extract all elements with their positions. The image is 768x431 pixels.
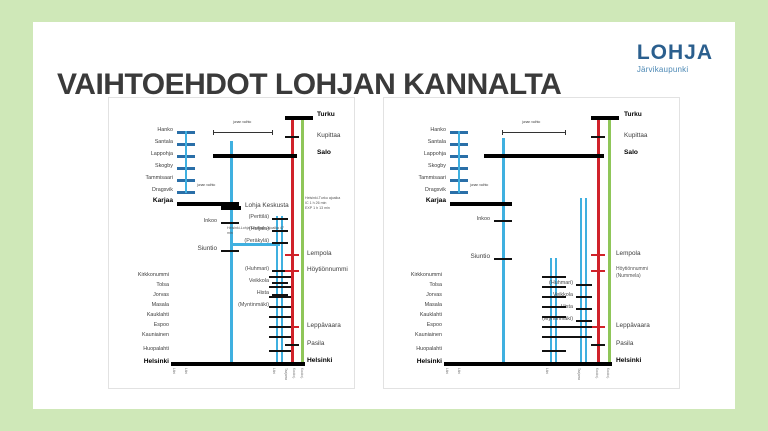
tick-perakyla [272,242,288,244]
label-inkoo: Inkoo [204,219,217,224]
label-lappohja-r: Lappohja [424,152,446,157]
vlabel-lahi-2-r: Lähi [457,368,460,374]
label-skogby: Skogby [155,164,173,169]
label-kauniainen: Kauniainen [142,333,169,338]
vlabel-lahi-3: Lähi [272,368,275,374]
label-espoo-r: Espoo [427,323,442,328]
tick-tolsa [269,286,291,288]
bar-lohja-keskusta [221,206,241,210]
label-turku-r: Turku [624,112,642,119]
bar-karjaa-r [450,202,512,206]
label-masala: Masala [152,303,169,308]
diagram-right: Turku Kupittaa Salo Hanko Santala Lappoh… [383,97,680,389]
label-helsinki-right: Helsinki [307,358,332,365]
label-hoytionnummi-nummela: Höytiönnummi (Nummela) [616,266,668,280]
tick-kirkkonummi [269,276,291,278]
vlabel-taajama-r: Taajama [577,368,580,380]
bar-turku [285,116,313,120]
label-helsinki-right-r: Helsinki [616,358,641,365]
label-perttila: (Perttilä) [249,215,269,220]
vlabel-kaukoj-2-r: Kaukoj. [606,368,609,379]
bar-turku-r [591,116,619,120]
label-dragsvik-r: Dragsvik [425,188,446,193]
line-green-kaukojuna [301,118,304,363]
diagram-left: Turku Kupittaa Salo Hanko Santala Lappoh… [108,97,355,389]
label-hista: Hista [257,291,269,296]
tick-lempola-r [591,254,605,256]
label-kirkkonummi-r: Kirkkonummi [411,273,442,278]
tick-tolsa-r [542,286,566,288]
tick-veikkola-r [576,296,592,298]
bar-salo-r [484,154,604,158]
tick-jorvas [269,296,291,298]
label-santala: Santala [155,140,173,145]
line-blue-espoo-a [276,216,278,363]
label-lempola: Lempola [307,251,332,257]
tick-kauniainen [269,336,291,338]
label-kupittaa: Kupittaa [317,133,340,139]
line-blue-karjaa-corridor [502,138,505,363]
tick-huopalahti [269,350,291,352]
tick-masala-r [542,306,566,308]
tick-perttila [272,218,288,220]
label-turku: Turku [317,112,335,119]
vlabel-lahi-3-r: Lähi [545,368,548,374]
label-hanko-r: Hanko [430,128,446,133]
label-kauklahti: Kauklahti [147,313,169,318]
tick-jorvas-r [542,296,566,298]
line-blue-hista-b [585,198,587,363]
logo-wordmark: LOHJA [637,42,713,63]
label-myntinmaki: (Myntinmäki) [238,303,269,308]
label-hoytionnummi: Höytiönnummi [307,267,348,273]
tick-hoytionnummi [285,270,299,272]
annotation-helsinki-turku-times: Helsinki-Turku ajoaika IC 1 h 26 min EXP… [305,196,375,211]
tick-lempola [285,254,299,256]
label-lohja-keskusta: Lohja Keskusta [245,203,289,209]
tick-hoytionnummi-r [591,270,605,272]
tick-inkoo-r [494,220,512,222]
transfer-text-karjaa-r: junan vaihto [470,183,488,187]
label-masala-r: Masala [425,303,442,308]
line-blue-hanko [185,131,187,193]
label-kupittaa-r: Kupittaa [624,133,647,139]
tick-kupittaa-r [591,136,605,138]
label-karjaa: Karjaa [153,198,173,205]
label-huopalahti: Huopalahti [143,347,169,352]
vlabel-kaukoj-2: Kaukoj. [300,368,303,379]
vlabel-lahi-1-r: Lähi [445,368,448,374]
label-skogby-r: Skogby [428,164,446,169]
tick-espoo-r [542,326,592,328]
logo-tagline: Järvikaupunki [637,65,713,74]
label-leppavaara-r: Leppävaara [616,323,650,329]
lohja-logo: LOHJA Järvikaupunki [637,42,713,74]
line-blue-espoo-a-r [550,258,552,363]
label-hanko: Hanko [157,128,173,133]
bar-salo-connector [213,154,293,158]
tick-kauniainen-r [542,336,592,338]
tick-huopalahti-r [542,350,566,352]
vlabel-lahi-2: Lähi [184,368,187,374]
label-pasila-r: Pasila [616,341,633,347]
label-kauniainen-r: Kauniainen [415,333,442,338]
label-lempola-r: Lempola [616,251,641,257]
tick-hista-r [576,308,592,310]
label-kauklahti-r: Kauklahti [420,313,442,318]
label-siuntio: Siuntio [197,246,217,252]
line-blue-espoo-b-r [555,258,557,363]
tick-siuntio [221,250,239,252]
tick-myntinmaki-r [576,320,592,322]
vlabel-lahi-1: Lähi [172,368,175,374]
bar-helsinki-r [444,362,612,366]
label-tolsa: Tolsa [156,283,169,288]
line-blue-lohja [230,141,233,363]
label-salo-r: Salo [624,150,638,157]
label-helsinki-left-r: Helsinki [417,359,442,366]
tick-huljala [272,230,288,232]
label-tammisaari: Tammisaari [145,176,173,181]
tick-pasila [285,344,299,346]
vlabel-kaukoj-1: Kaukoj. [292,368,295,379]
label-huopalahti-r: Huopalahti [416,347,442,352]
label-jorvas: Jorvas [153,293,169,298]
tick-kupittaa [285,136,299,138]
label-helsinki-left: Helsinki [144,359,169,366]
tick-masala [269,306,291,308]
slide-canvas: VAIHTOEHDOT LOHJAN KANNALTA LOHJA Järvik… [33,22,735,409]
label-pasila: Pasila [307,341,324,347]
label-karjaa-r: Karjaa [426,198,446,205]
tick-kirkkonummi-r [542,276,566,278]
line-blue-hista-a [580,198,582,363]
label-tolsa-r: Tolsa [429,283,442,288]
tick-espoo [269,326,291,328]
label-kirkkonummi: Kirkkonummi [138,273,169,278]
label-lappohja: Lappohja [151,152,173,157]
label-leppavaara: Leppävaara [307,323,341,329]
transfer-text-salo-r: junan vaihto [522,120,540,124]
label-jorvas-r: Jorvas [426,293,442,298]
transfer-text-salo: junan vaihto [233,120,251,124]
tick-pasila-r [591,344,605,346]
tick-kauklahti-r [542,316,566,318]
label-inkoo-r: Inkoo [477,217,490,222]
tick-leppavaara-r [591,326,605,328]
line-green-kaukojuna-r [608,118,611,363]
label-siuntio-r: Siuntio [470,254,490,260]
vlabel-taajama: Taajama [284,368,287,380]
label-perakyla: (Peräkylä) [244,239,269,244]
tick-kauklahti [269,316,291,318]
line-blue-hanko-r [458,131,460,193]
label-dragsvik: Dragsvik [152,188,173,193]
label-tammisaari-r: Tammisaari [418,176,446,181]
tick-siuntio-r [494,258,512,260]
tick-inkoo [221,222,239,224]
bar-helsinki [171,362,305,366]
vlabel-kaukoj-1-r: Kaukoj. [595,368,598,379]
label-huljala: (Huljala) [249,227,269,232]
label-espoo: Espoo [154,323,169,328]
tick-huhmari-r [576,284,592,286]
label-veikkola: Veikkola [249,279,269,284]
line-blue-espoo-b [281,216,283,363]
transfer-text-karjaa: junan vaihto [197,183,215,187]
label-huhmari: (Huhmari) [245,267,269,272]
label-salo: Salo [317,150,331,157]
tick-veikkola [272,282,288,284]
label-santala-r: Santala [428,140,446,145]
